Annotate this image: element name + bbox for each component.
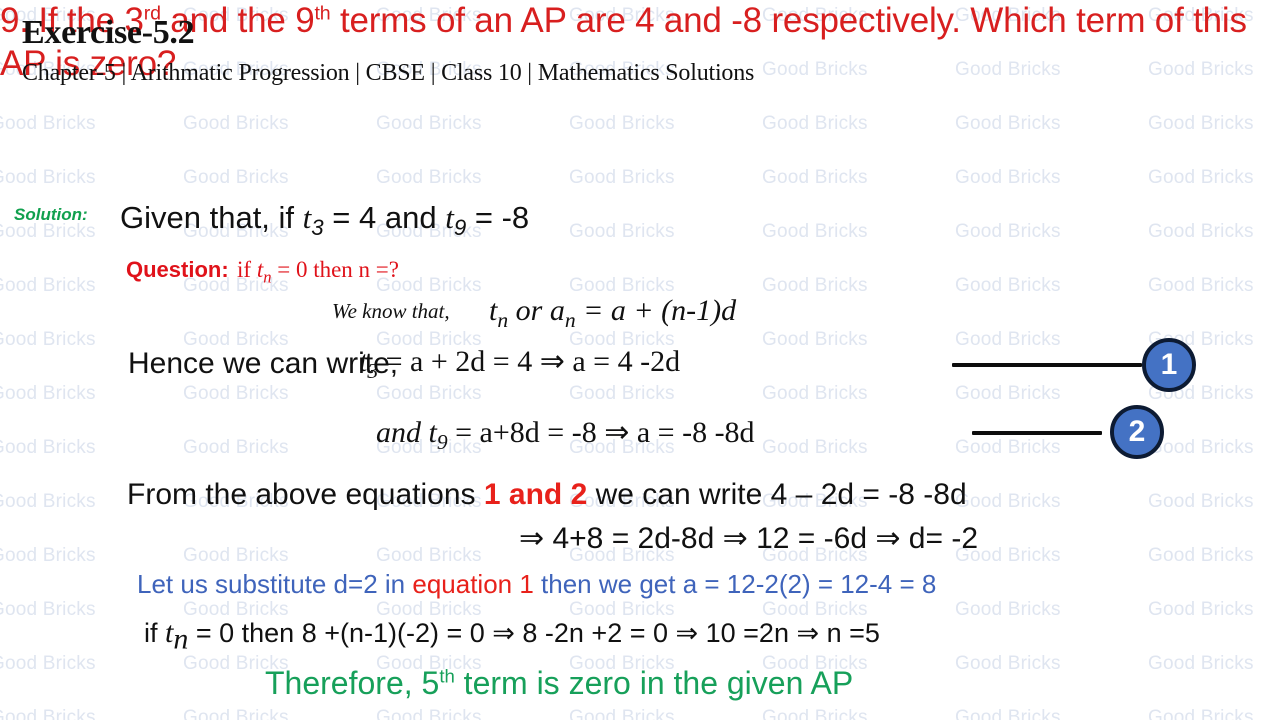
question-sub-rest: = 0 then n =? bbox=[271, 257, 399, 282]
conclusion-suffix: term is zero in the given AP bbox=[455, 665, 853, 701]
given-t9-index: 9 bbox=[454, 215, 466, 240]
equation-1-index: 3 bbox=[367, 359, 378, 383]
leader-line-1 bbox=[952, 363, 1142, 367]
equation-badge-1: 1 bbox=[1142, 338, 1196, 392]
leader-line-2 bbox=[972, 431, 1102, 435]
formula-t-index: n bbox=[497, 308, 508, 332]
hence-label: Hence we can write, bbox=[128, 347, 398, 381]
n-line-rest: = 0 then 8 +(n-1)(-2) = 0 ⇒ 8 -2n +2 = 0… bbox=[188, 618, 880, 648]
page-title: Exercise-5.2 bbox=[22, 14, 194, 52]
equation-2-t: t bbox=[429, 416, 437, 449]
formula-a-index: n bbox=[565, 308, 576, 332]
given-t3: t bbox=[303, 200, 312, 235]
content-layer: Exercise-5.2 Chapter-5 | Arithmatic Prog… bbox=[0, 0, 1280, 720]
from-above-suffix: we can write 4 – 2d = -8 -8d bbox=[587, 478, 966, 511]
slide-canvas: Good BricksGood BricksGood BricksGood Br… bbox=[0, 0, 1280, 720]
formula-a: a bbox=[550, 294, 565, 327]
formula-or: or bbox=[508, 294, 550, 327]
formula-rest: = a + (n-1)d bbox=[576, 294, 736, 327]
n-line-prefix: if bbox=[144, 618, 165, 648]
question-sup-th: th bbox=[314, 2, 330, 24]
arrow-derivation-line: ⇒ 4+8 = 2d-8d ⇒ 12 = -6d ⇒ d= -2 bbox=[519, 521, 978, 556]
from-above-prefix: From the above equations bbox=[127, 478, 484, 511]
n-value-line: if tn = 0 then 8 +(n-1)(-2) = 0 ⇒ 8 -2n … bbox=[144, 616, 880, 656]
substitute-suffix: then we get a = 12-2(2) = 12-4 = 8 bbox=[534, 569, 937, 599]
page-subtitle: Chapter-5 | Arithmatic Progression | CBS… bbox=[22, 60, 754, 87]
conclusion-sup: th bbox=[439, 665, 454, 686]
equation-2-line: and t9 = a+8d = -8 ⇒ a = -8 -8d bbox=[376, 415, 755, 455]
substitute-prefix: Let us substitute d=2 in bbox=[137, 569, 412, 599]
from-above-line: From the above equations 1 and 2 we can … bbox=[127, 478, 967, 512]
given-t9: t bbox=[445, 200, 454, 235]
question-sub-prefix: if bbox=[237, 257, 257, 282]
given-line: Given that, if t3 = 4 and t9 = -8 bbox=[120, 200, 529, 241]
equation-2-index: 9 bbox=[437, 430, 448, 454]
we-know-that-label: We know that, bbox=[332, 299, 450, 324]
equation-2-and: and bbox=[376, 416, 429, 449]
question-label: Question: bbox=[126, 257, 229, 283]
equation-1-rest: = a + 2d = 4 ⇒ a = 4 -2d bbox=[378, 345, 680, 378]
n-line-index: n bbox=[173, 622, 188, 655]
given-t3-index: 3 bbox=[311, 215, 323, 240]
equation-badge-2: 2 bbox=[1110, 405, 1164, 459]
from-above-highlight: 1 and 2 bbox=[484, 478, 587, 511]
equation-1-line: t3 = a + 2d = 4 ⇒ a = 4 -2d bbox=[359, 344, 680, 384]
conclusion-line: Therefore, 5th term is zero in the given… bbox=[265, 665, 853, 702]
given-eq-1: = 4 and bbox=[324, 200, 446, 235]
question-sub-line: if tn = 0 then n =? bbox=[237, 257, 399, 288]
nth-term-formula: tn or an = a + (n-1)d bbox=[489, 294, 736, 333]
solution-label: Solution: bbox=[14, 205, 88, 225]
substitute-highlight: equation 1 bbox=[412, 569, 533, 599]
conclusion-prefix: Therefore, 5 bbox=[265, 665, 439, 701]
equation-2-rest: = a+8d = -8 ⇒ a = -8 -8d bbox=[448, 416, 755, 449]
given-prefix: Given that, if bbox=[120, 200, 303, 235]
given-eq-2: = -8 bbox=[466, 200, 529, 235]
substitute-line: Let us substitute d=2 in equation 1 then… bbox=[137, 569, 936, 600]
